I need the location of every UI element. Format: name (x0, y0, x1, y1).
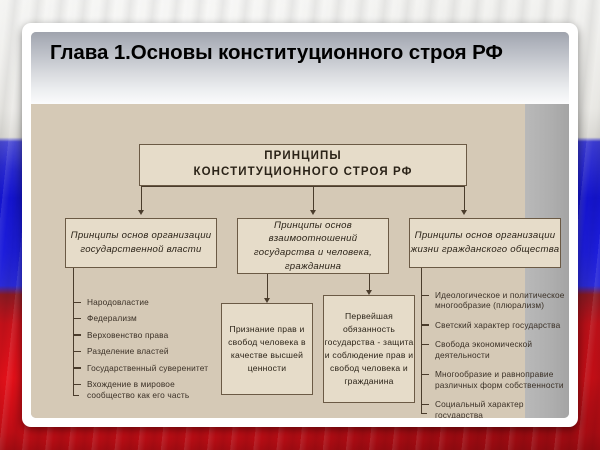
list-item-label: Светский характер государства (435, 320, 560, 330)
box-label: Принципы основ организации жизни граждан… (410, 229, 560, 256)
list-item-label: Разделение властей (87, 346, 169, 356)
connector-root-to-mid (313, 186, 314, 210)
box-label: Признание прав и свобод человека в качес… (222, 323, 312, 375)
diagram-box-civil-society: Принципы основ организации жизни граждан… (409, 218, 561, 268)
bracket-left-foot (73, 395, 79, 396)
dash-marker-icon (421, 324, 429, 325)
connector-root-to-left (141, 186, 142, 210)
list-item: Вхождение в мировое сообщество как его ч… (87, 379, 219, 400)
connector-root-to-right (464, 186, 465, 210)
diagram-box-rights-recognition: Признание прав и свобод человека в качес… (221, 303, 313, 395)
arrow-root-to-left (138, 210, 144, 215)
dash-marker-icon (73, 334, 81, 335)
list-item-label: Государственный суверенитет (87, 363, 208, 373)
list-item: Государственный суверенитет (87, 363, 219, 373)
list-item-label: Идеологическое и политическое многообраз… (435, 290, 565, 310)
dash-marker-icon (73, 384, 81, 385)
list-item: Народовластие (87, 297, 219, 307)
box-label: Принципы основ организации государственн… (66, 229, 216, 256)
dash-marker-icon (421, 404, 429, 405)
list-item-label: Верховенство права (87, 330, 168, 340)
list-item: Разделение властей (87, 346, 219, 356)
box-label: Принципы основ взаимоотношений государст… (238, 219, 388, 273)
arrow-root-to-mid (310, 210, 316, 215)
diagram-box-state-duty: Первейшая обязанность государства - защи… (323, 295, 415, 403)
list-item: Свобода экономической деятельности (435, 339, 565, 360)
root-line-2: КОНСТИТУЦИОННОГО СТРОЯ РФ (193, 166, 412, 178)
diagram-content-panel: ПРИНЦИПЫ КОНСТИТУЦИОННОГО СТРОЯ РФ Принц… (31, 104, 525, 418)
dash-marker-icon (73, 302, 81, 303)
bracket-right-foot (421, 413, 427, 414)
connector-mid-to-child-a (267, 274, 268, 298)
page-title: Глава 1.Основы конституционного строя РФ (50, 39, 550, 66)
dash-marker-icon (421, 295, 429, 296)
diagram-root-box: ПРИНЦИПЫ КОНСТИТУЦИОННОГО СТРОЯ РФ (139, 144, 467, 186)
dash-marker-icon (73, 351, 81, 352)
list-item-label: Многообразие и равноправие различных фор… (435, 369, 564, 389)
dash-marker-icon (73, 318, 81, 319)
list-item: Идеологическое и политическое многообраз… (435, 290, 565, 311)
list-item-label: Федерализм (87, 313, 137, 323)
list-item: Светский характер государства (435, 320, 565, 330)
right-principles-list: Идеологическое и политическое многообраз… (435, 290, 565, 418)
root-line-1: ПРИНЦИПЫ (264, 150, 342, 162)
slide-title-bar: Глава 1.Основы конституционного строя РФ (31, 32, 569, 104)
list-item-label: Социальный характер государства (435, 399, 524, 418)
bracket-right-vertical (421, 268, 422, 414)
dash-marker-icon (421, 374, 429, 375)
list-item: Социальный характер государства (435, 399, 565, 418)
left-principles-list: Народовластие Федерализм Верховенство пр… (87, 297, 219, 406)
list-item-label: Вхождение в мировое сообщество как его ч… (87, 379, 189, 399)
diagram-box-state-person-relations: Принципы основ взаимоотношений государст… (237, 218, 389, 274)
list-item: Многообразие и равноправие различных фор… (435, 369, 565, 390)
connector-root-bus (141, 186, 465, 187)
dash-marker-icon (73, 367, 81, 368)
slide-frame: Глава 1.Основы конституционного строя РФ… (22, 23, 578, 427)
bracket-left-vertical (73, 268, 74, 396)
list-item: Федерализм (87, 313, 219, 323)
slide-inner: Глава 1.Основы конституционного строя РФ… (31, 32, 569, 418)
list-item-label: Народовластие (87, 297, 149, 307)
list-item: Верховенство права (87, 330, 219, 340)
dash-marker-icon (421, 344, 429, 345)
list-item-label: Свобода экономической деятельности (435, 339, 532, 359)
diagram-box-state-power: Принципы основ организации государственн… (65, 218, 217, 268)
arrow-root-to-right (461, 210, 467, 215)
connector-mid-to-child-b (369, 274, 370, 290)
box-label: Первейшая обязанность государства - защи… (324, 310, 414, 387)
